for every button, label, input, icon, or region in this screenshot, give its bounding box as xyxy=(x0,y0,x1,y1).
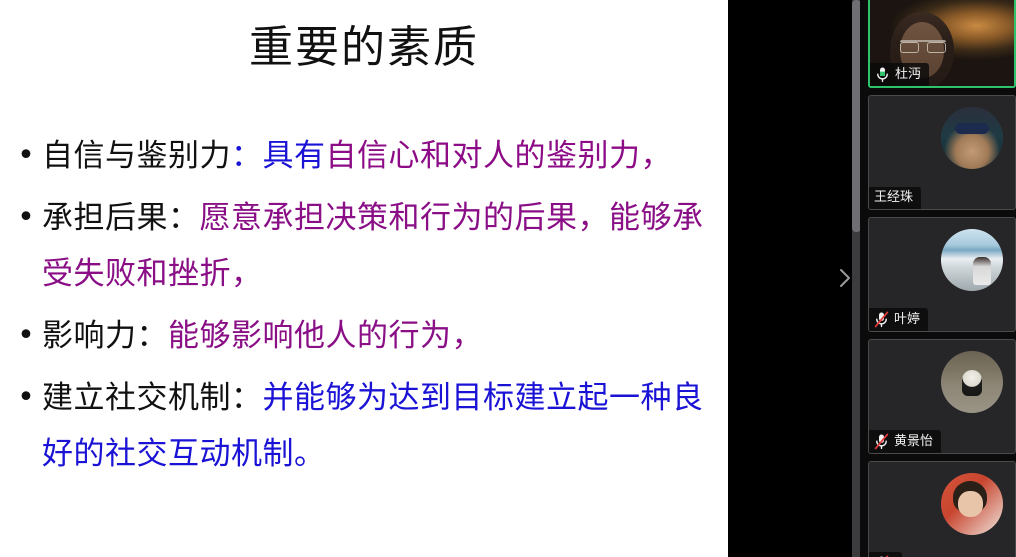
participant-name: 王经珠 xyxy=(874,190,913,206)
avatar-image xyxy=(941,351,1003,413)
microphone-muted-icon[interactable] xyxy=(874,433,889,450)
participant-tile[interactable]: 黄景怡 xyxy=(868,339,1016,454)
participant-nameplate: 黄景怡 xyxy=(869,430,941,453)
avatar xyxy=(941,351,1003,413)
bullet-segment: 影响力： xyxy=(42,318,168,354)
bullet-text: 建立社交机制：并能够为达到目标建立起一种良好的社交互动机制。 xyxy=(42,370,728,482)
meeting-screen-share-window: 重要的素质 • 自信与鉴别力：具有自信心和对人的鉴别力， • 承担后果：愿意承担… xyxy=(0,0,1016,557)
participant-nameplate: 叶婷 xyxy=(869,308,928,331)
bullet-segment: ： xyxy=(231,138,263,174)
avatar xyxy=(941,107,1003,169)
video-glasses-shape xyxy=(900,40,946,52)
bullet-segment: 自信与鉴别力 xyxy=(42,138,231,174)
list-item: • 影响力：能够影响他人的行为， xyxy=(0,308,728,364)
avatar-image xyxy=(941,229,1003,291)
participant-gallery-scroll[interactable]: 杜沔 王经珠 xyxy=(868,0,1016,557)
bullet-segment: 承担后果： xyxy=(42,200,200,236)
avatar-image xyxy=(941,473,1003,535)
shared-slide: 重要的素质 • 自信与鉴别力：具有自信心和对人的鉴别力， • 承担后果：愿意承担… xyxy=(0,0,728,557)
participant-tile-active-speaker[interactable]: 杜沔 xyxy=(868,0,1016,88)
participant-name: 黄景怡 xyxy=(894,434,933,450)
list-item: • 承担后果：愿意承担决策和行为的后果，能够承受失败和挫折， xyxy=(0,190,728,302)
avatar-image xyxy=(941,107,1003,169)
participant-nameplate xyxy=(869,552,902,557)
bullet-text: 承担后果：愿意承担决策和行为的后果，能够承受失败和挫折， xyxy=(42,190,728,302)
microphone-icon[interactable] xyxy=(875,66,890,83)
avatar xyxy=(941,229,1003,291)
participant-tile[interactable] xyxy=(868,461,1016,557)
bullet-segment: 建立社交机制： xyxy=(42,380,263,416)
bullet-segment: 具有 xyxy=(263,138,326,174)
bullet-marker-icon: • xyxy=(10,190,42,246)
bullet-text: 影响力：能够影响他人的行为， xyxy=(42,308,728,364)
participant-tile[interactable]: 叶婷 xyxy=(868,217,1016,332)
bullet-marker-icon: • xyxy=(10,370,42,426)
bullet-segment: 自信心和对人的鉴别力， xyxy=(326,138,673,174)
microphone-muted-icon[interactable] xyxy=(874,311,889,328)
participant-name: 叶婷 xyxy=(894,312,920,328)
slide-bullet-list: • 自信与鉴别力：具有自信心和对人的鉴别力， • 承担后果：愿意承担决策和行为的… xyxy=(0,128,728,488)
participant-nameplate: 杜沔 xyxy=(870,63,929,86)
bullet-segment: 能够影响他人的行为， xyxy=(168,318,483,354)
bullet-marker-icon: • xyxy=(10,308,42,364)
bullet-text: 自信与鉴别力：具有自信心和对人的鉴别力， xyxy=(42,128,728,184)
participant-gallery: 杜沔 王经珠 xyxy=(860,0,1016,557)
bullet-marker-icon: • xyxy=(10,128,42,184)
participant-tile[interactable]: 王经珠 xyxy=(868,95,1016,210)
slide-title: 重要的素质 xyxy=(0,22,728,75)
avatar xyxy=(941,473,1003,535)
participant-nameplate: 王经珠 xyxy=(869,187,921,209)
list-item: • 建立社交机制：并能够为达到目标建立起一种良好的社交互动机制。 xyxy=(0,370,728,482)
list-item: • 自信与鉴别力：具有自信心和对人的鉴别力， xyxy=(0,128,728,184)
participant-name: 杜沔 xyxy=(895,67,921,83)
